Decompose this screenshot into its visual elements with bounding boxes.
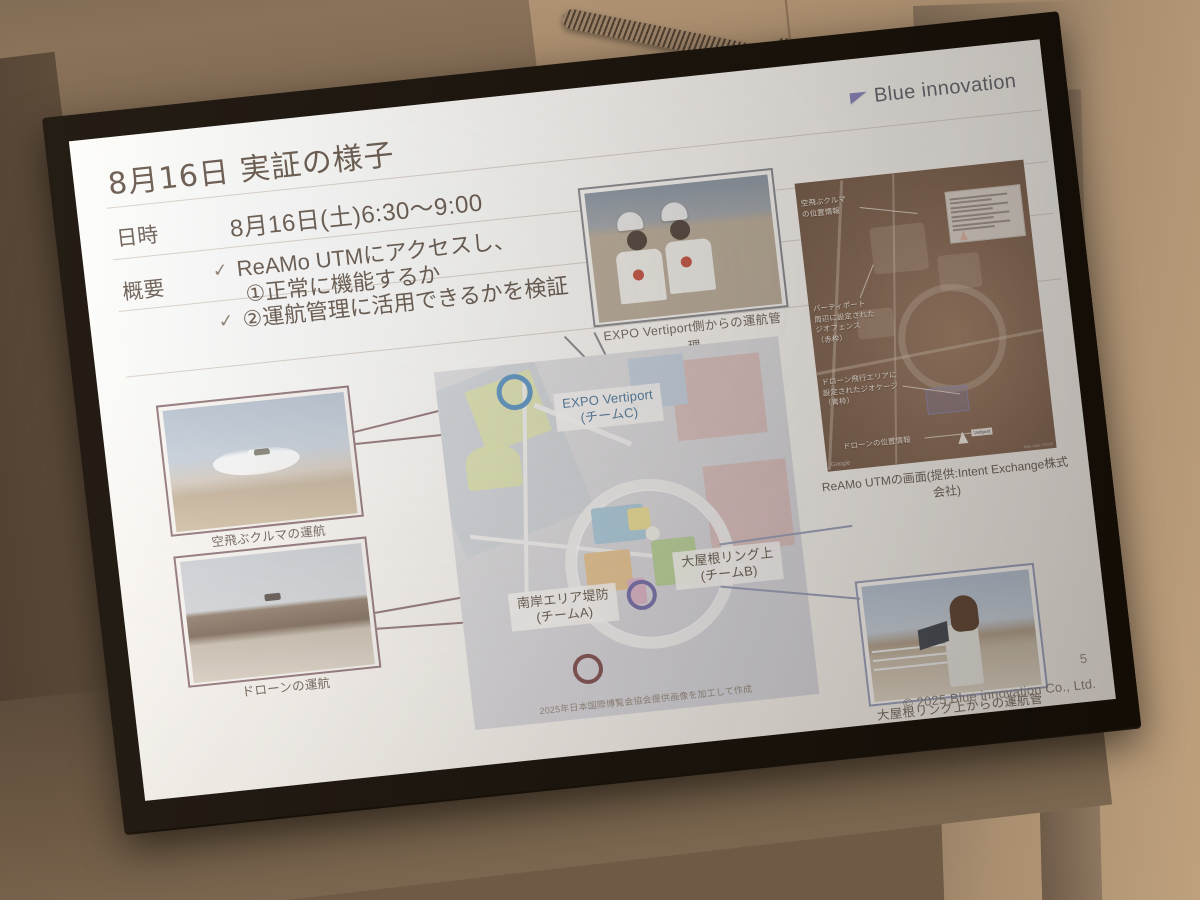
triangle-icon (850, 92, 868, 105)
photo-image (584, 174, 782, 322)
person-face (626, 229, 648, 251)
room-photo: 8月16日 実証の様子 日時 8月16日(土)6:30〜9:00 概要 ✓ Re… (0, 0, 1200, 900)
callout-connector (354, 407, 451, 433)
safety-vest (664, 238, 716, 294)
photo-drone: ドローンの運航 (173, 536, 381, 687)
summary-label: 概要 (121, 272, 166, 306)
brand-name: Blue innovation (873, 70, 1018, 108)
grand-ring-shape (893, 279, 1013, 398)
datetime-label: 日時 (115, 219, 160, 253)
photo-image (861, 569, 1041, 702)
marker-team-a (571, 652, 604, 685)
brand-logo: Blue innovation (849, 70, 1018, 110)
flying-car-marker-icon (959, 230, 968, 241)
map-green-area (464, 443, 524, 492)
callout-connector (355, 433, 451, 445)
presentation-slide: 8月16日 実証の様子 日時 8月16日(土)6:30〜9:00 概要 ✓ Re… (69, 39, 1116, 801)
photo-image (162, 392, 357, 532)
utm-screenshot: Vertiport Google Map data ©2025 空飛ぶクルマの位… (795, 160, 1057, 472)
utm-info-panel (944, 184, 1026, 244)
photo-expo-vertiport: EXPO Vertiport側からの運航管理 (578, 168, 789, 328)
map-building (869, 223, 929, 275)
photo-image (180, 543, 375, 683)
person-face (669, 219, 691, 241)
venue-map-source: 2025年日本国際博覧会協会提供画像を加工して作成 (473, 675, 819, 724)
google-credit: Google (831, 460, 851, 468)
check-icon: ✓ (211, 257, 229, 284)
photo-flying-car: 空飛ぶクルマの運航 (156, 385, 364, 536)
page-number: 5 (1079, 651, 1088, 667)
expo-logo-mark (632, 269, 644, 281)
helmet-icon (660, 201, 688, 222)
projector-screen: 8月16日 実証の様子 日時 8月16日(土)6:30〜9:00 概要 ✓ Re… (42, 11, 1141, 833)
map-attribution: Map data ©2025 (1023, 441, 1053, 449)
person-hair (948, 594, 980, 633)
person-body (943, 622, 984, 687)
annotation-vertiport-geofence: バーティポート周辺に設定されたジオフェンス（赤枠） (813, 297, 886, 347)
helmet-icon (616, 211, 644, 232)
check-icon: ✓ (217, 308, 235, 335)
